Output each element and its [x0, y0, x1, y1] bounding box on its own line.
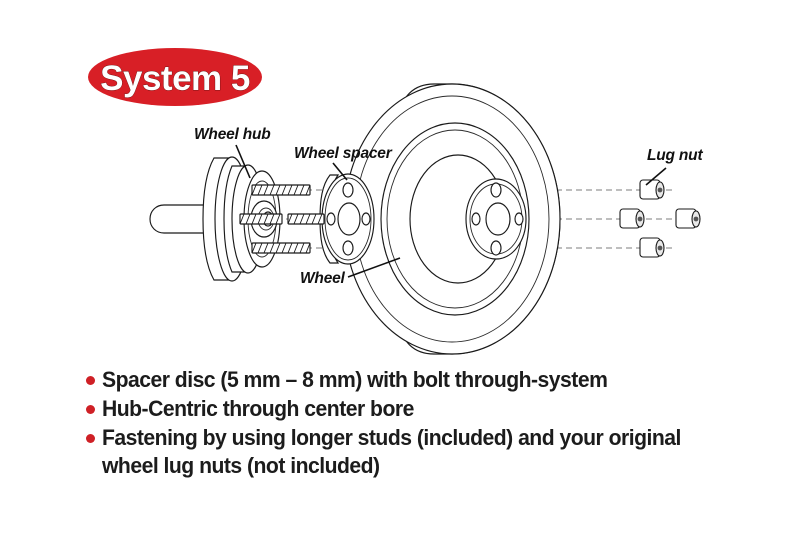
- wheel-part: [344, 84, 560, 354]
- badge-label: System 5: [100, 59, 250, 98]
- callout-lug-nut: Lug nut: [647, 147, 703, 164]
- list-item: Fastening by using longer studs (include…: [86, 424, 786, 480]
- callout-wheel-spacer: Wheel spacer: [294, 145, 393, 162]
- lug-nut: [640, 180, 664, 199]
- wheel-spacer-part: [320, 174, 374, 264]
- system-badge: System 5: [88, 48, 262, 106]
- lug-nut: [640, 238, 664, 257]
- callout-wheel: Wheel: [300, 270, 346, 287]
- bullet-label: Hub-Centric through center bore: [102, 395, 414, 423]
- bullet-label: Fastening by using longer studs (include…: [102, 424, 681, 480]
- bullet-dot-icon: [86, 434, 95, 443]
- bullet-dot-icon: [86, 376, 95, 385]
- lug-nut: [620, 209, 644, 228]
- list-item: Spacer disc (5 mm – 8 mm) with bolt thro…: [86, 366, 786, 394]
- lug-nut: [676, 209, 700, 228]
- axle-shaft-part: [150, 205, 206, 233]
- bullet-dot-icon: [86, 405, 95, 414]
- bullet-label: Spacer disc (5 mm – 8 mm) with bolt thro…: [102, 366, 607, 394]
- list-item: Hub-Centric through center bore: [86, 395, 786, 423]
- callout-wheel-hub: Wheel hub: [194, 126, 271, 143]
- wheel-studs-part: [240, 185, 324, 253]
- diagram-page: System 5 Wheel hub Wheel spacer Wheel Lu…: [0, 0, 800, 533]
- feature-bullet-list: Spacer disc (5 mm – 8 mm) with bolt thro…: [86, 366, 786, 481]
